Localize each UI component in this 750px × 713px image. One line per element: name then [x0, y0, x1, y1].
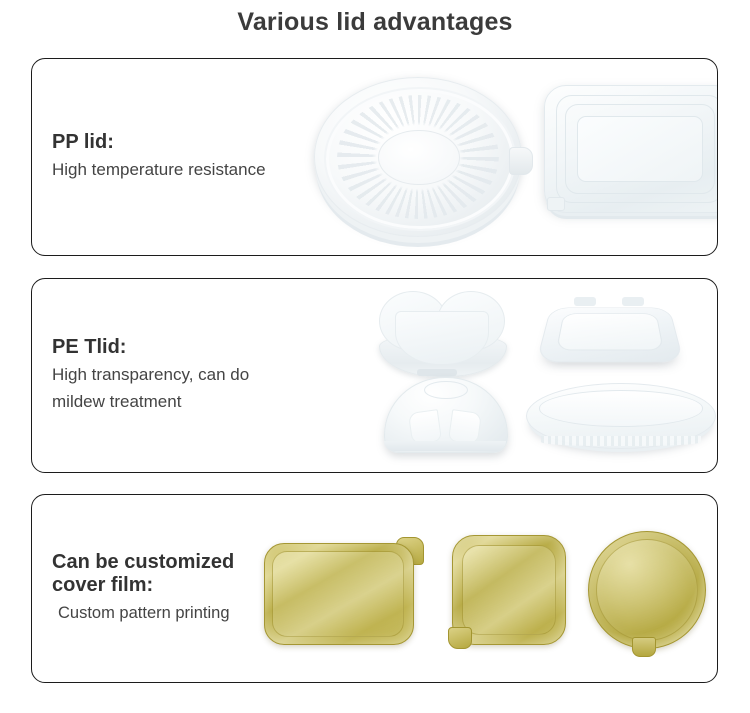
card-pp-lid: PP lid: High temperature resistance	[31, 58, 718, 256]
pp-rect-ridge-outer	[556, 95, 717, 203]
dome-pe-lid-image	[384, 377, 506, 451]
pe-oval-inner-panel	[539, 390, 702, 426]
pp-rect-body	[544, 85, 717, 213]
page-title: Various lid advantages	[0, 8, 750, 37]
gold-rectangular-foil-lid-image	[264, 537, 424, 645]
pe-square-notch-right	[622, 297, 644, 306]
card-cover-film: Can be customized cover film: Custom pat…	[31, 494, 718, 683]
gold-rect-inner-panel	[272, 551, 404, 637]
heart-shaped-pe-lid-image	[377, 289, 507, 377]
pe-lid-heading: PE Tlid:	[52, 336, 249, 360]
cover-film-heading: Can be customized cover film:	[52, 551, 234, 598]
pe-lid-description: High transparency, can do mildew treatme…	[52, 362, 249, 415]
pe-square-notch-left	[574, 297, 596, 306]
pe-square-body	[536, 308, 684, 363]
pp-lid-description: High temperature resistance	[52, 157, 266, 183]
gold-round-foil-lid-image	[588, 531, 710, 653]
pe-heart-left-lobe	[379, 291, 447, 351]
pe-heart-base	[379, 333, 507, 377]
gold-round-body	[588, 531, 706, 649]
pp-rect-ridge-inner	[577, 116, 704, 183]
gold-rect-pull-tab	[396, 537, 424, 565]
pe-heart-notch	[417, 369, 457, 376]
gold-square-pull-tab	[448, 627, 472, 649]
gold-round-inner-panel	[596, 539, 698, 641]
pe-dome-cap	[384, 377, 508, 453]
round-ribbed-pp-lid-image	[314, 77, 522, 237]
infographic-page: Various lid advantages PP lid: High temp…	[0, 0, 750, 713]
square-notched-pe-lid-image	[544, 293, 676, 371]
rectangular-pp-lid-image	[544, 85, 717, 213]
pp-rect-corner-tab	[547, 197, 565, 211]
pp-round-rim	[324, 87, 515, 232]
pe-dome-base-rim	[384, 441, 506, 451]
pe-oval-body	[526, 383, 716, 449]
gold-square-foil-lid-image	[448, 535, 570, 653]
card-pe-lid: PE Tlid: High transparency, can do milde…	[31, 278, 718, 473]
pe-square-inner-panel	[556, 313, 664, 350]
pp-lid-text-block: PP lid: High temperature resistance	[52, 59, 266, 255]
gold-round-pull-tab	[632, 637, 656, 657]
pe-dome-window-left	[408, 409, 442, 445]
pe-dome-top-ring	[424, 381, 467, 399]
pe-dome-window-right	[448, 409, 482, 445]
gold-square-body	[452, 535, 566, 645]
gold-rect-body	[264, 543, 414, 645]
pp-round-center-oval	[378, 130, 459, 185]
pe-oval-rim-ridges	[541, 436, 701, 446]
pe-heart-right-lobe	[437, 291, 505, 351]
gold-square-inner-panel	[462, 545, 556, 635]
pe-heart-dome	[395, 311, 489, 365]
cover-film-text-block: Can be customized cover film: Custom pat…	[52, 495, 234, 682]
cover-film-description: Custom pattern printing	[52, 601, 234, 627]
pp-round-body	[314, 77, 522, 237]
pp-rect-ridge-middle	[565, 104, 715, 194]
pp-round-ribs	[337, 95, 499, 220]
pe-lid-text-block: PE Tlid: High transparency, can do milde…	[52, 279, 249, 472]
oval-flat-pe-lid-image	[526, 383, 716, 449]
pp-round-pull-tab	[509, 147, 533, 175]
pp-lid-heading: PP lid:	[52, 131, 266, 155]
